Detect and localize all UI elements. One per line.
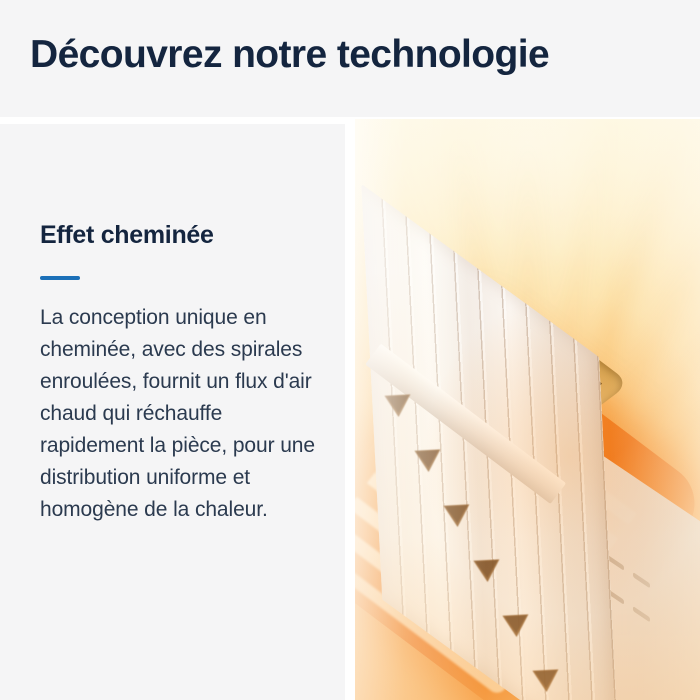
image-left-falloff [355,119,486,700]
text-panel: Effet cheminée La conception unique en c… [0,124,345,700]
promo-card: Découvrez notre technologie Effet chemin… [0,0,700,700]
chimney-outlet [532,669,559,692]
product-image [355,119,700,700]
section-heading: Effet cheminée [40,220,214,250]
page-title: Découvrez notre technologie [30,32,549,78]
header-band: Découvrez notre technologie [0,0,700,117]
chimney-outlet [502,614,529,637]
accent-rule [40,276,80,280]
image-right-falloff [610,119,700,700]
body-paragraph: La conception unique en cheminée, avec d… [40,302,318,526]
